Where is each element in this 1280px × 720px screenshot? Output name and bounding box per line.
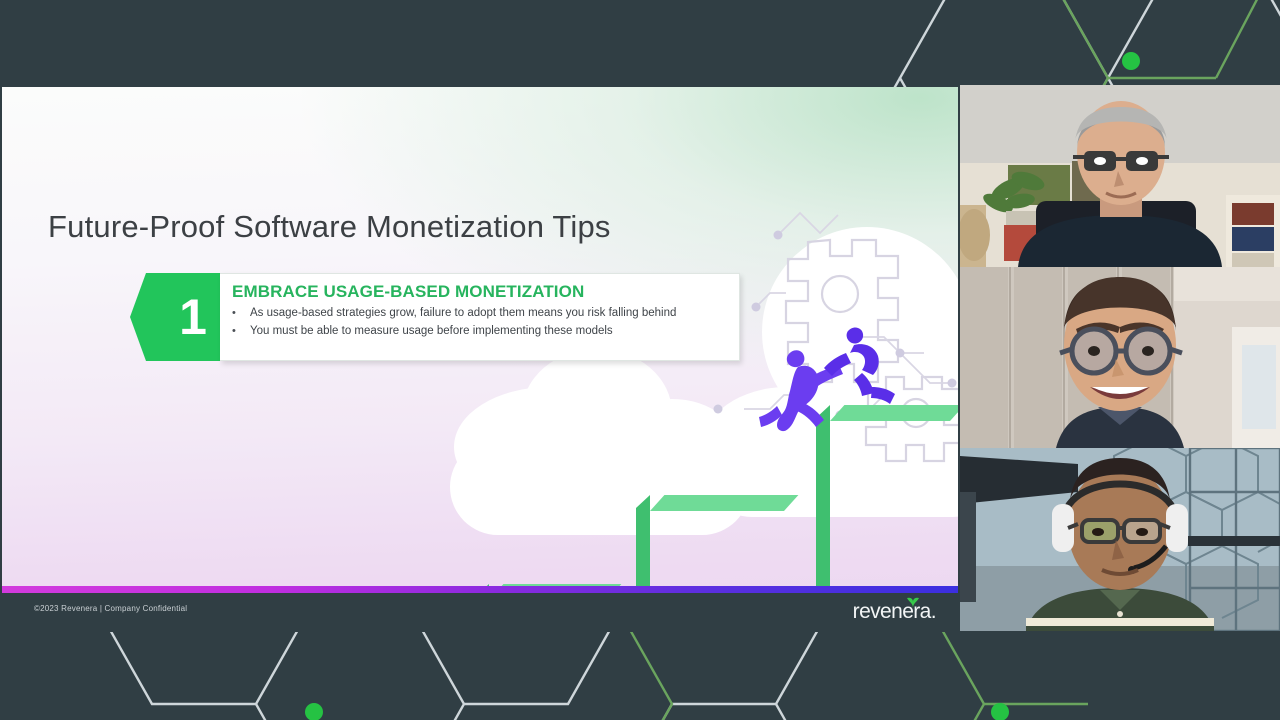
- video-tile-participant-1[interactable]: [960, 85, 1280, 267]
- slide-accent-bar: [2, 586, 958, 593]
- callout-body: EMBRACE USAGE-BASED MONETIZATION • As us…: [220, 273, 740, 361]
- lattice-node-icon: [1122, 52, 1140, 70]
- lattice-node-icon: [305, 703, 323, 720]
- figure-helper-icon: [824, 327, 895, 404]
- callout-heading: EMBRACE USAGE-BASED MONETIZATION: [232, 282, 729, 302]
- bullet-marker-icon: •: [232, 323, 250, 339]
- callout-number: 1: [166, 273, 220, 361]
- bullet-text: You must be able to measure usage before…: [250, 323, 613, 339]
- hexagon-lattice-bottom: [0, 632, 1280, 720]
- slide-footer: ©2023 Revenera | Company Confidential re…: [2, 593, 958, 629]
- callout-block: 1 EMBRACE USAGE-BASED MONETIZATION • As …: [130, 273, 740, 361]
- bullet-marker-icon: •: [232, 305, 250, 321]
- participant-1-video: [960, 85, 1280, 267]
- shared-slide[interactable]: Future-Proof Software Monetization Tips …: [2, 87, 958, 629]
- logo-wordmark: revenera.: [853, 601, 936, 622]
- video-tile-participant-3[interactable]: [960, 448, 1280, 631]
- list-item: • You must be able to measure usage befo…: [232, 323, 729, 339]
- meeting-stage: Future-Proof Software Monetization Tips …: [0, 0, 1280, 720]
- participant-2-video: [960, 267, 1280, 448]
- lattice-node-icon: [991, 703, 1009, 720]
- climbing-figures-illustration: [754, 325, 904, 451]
- hexagon-lattice-top: [0, 0, 1280, 88]
- participant-3-video: [960, 448, 1280, 631]
- copyright-notice: ©2023 Revenera | Company Confidential: [34, 604, 187, 613]
- video-tile-participant-2[interactable]: [960, 267, 1280, 448]
- bullet-text: As usage-based strategies grow, failure …: [250, 305, 676, 321]
- list-item: • As usage-based strategies grow, failur…: [232, 305, 729, 321]
- slide-title: Future-Proof Software Monetization Tips: [48, 209, 611, 245]
- participant-video-rail: [960, 85, 1280, 631]
- revenera-logo: revenera.: [853, 597, 936, 625]
- stage: Future-Proof Software Monetization Tips …: [0, 85, 1280, 631]
